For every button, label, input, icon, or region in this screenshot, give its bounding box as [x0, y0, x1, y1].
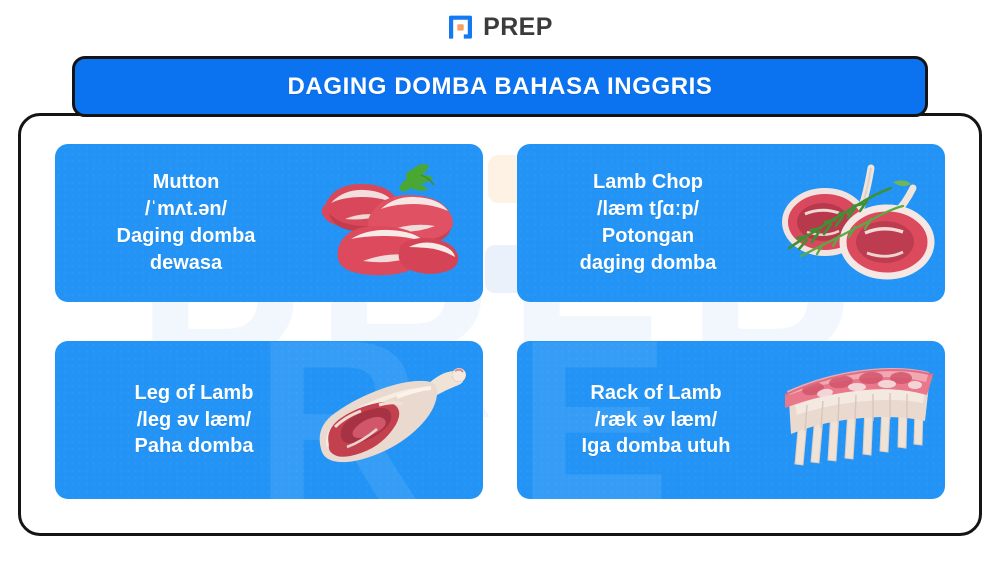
vocab-card-text: Rack of Lamb /ræk əv læm/ Iga domba utuh: [517, 380, 785, 460]
vocab-card-text: Leg of Lamb /leg əv læm/ Paha domba: [55, 380, 323, 460]
prep-logo-icon: [447, 14, 474, 41]
term-label: Leg of Lamb: [65, 380, 323, 407]
rack-of-lamb-photo: [760, 341, 945, 499]
meaning-line-2: dewasa: [65, 250, 307, 277]
meaning-line-1: Iga domba utuh: [527, 433, 785, 460]
meaning-line-2: daging domba: [527, 250, 769, 277]
ipa-label: /leg əv læm/: [65, 407, 323, 434]
term-label: Rack of Lamb: [527, 380, 785, 407]
meaning-line-1: Paha domba: [65, 433, 323, 460]
vocabulary-grid: Mutton /ˈmʌt.ən/ Daging domba dewasa: [55, 144, 945, 499]
infographic-page: PREP PREP DAGING DOMBA BAHASA INGGRIS Mu…: [0, 0, 1000, 563]
page-title: DAGING DOMBA BAHASA INGGRIS: [287, 73, 712, 101]
ipa-label: /ˈmʌt.ən/: [65, 196, 307, 223]
title-banner: DAGING DOMBA BAHASA INGGRIS: [72, 56, 928, 117]
vocab-card-text: Lamb Chop /læm tʃɑːp/ Potongan daging do…: [517, 169, 769, 276]
vocab-card-leg-of-lamb[interactable]: R Leg of Lamb /leg əv læm/ Paha domba: [55, 341, 483, 499]
lamb-chop-photo: [760, 144, 945, 302]
ipa-label: /læm tʃɑːp/: [527, 196, 769, 223]
brand-name: PREP: [483, 15, 553, 40]
term-label: Mutton: [65, 169, 307, 196]
vocab-card-text: Mutton /ˈmʌt.ən/ Daging domba dewasa: [55, 169, 307, 276]
mutton-cuts-photo: [298, 144, 483, 302]
leg-of-lamb-photo: [298, 341, 483, 499]
meaning-line-1: Potongan: [527, 223, 769, 250]
vocab-card-lamb-chop[interactable]: Lamb Chop /læm tʃɑːp/ Potongan daging do…: [517, 144, 945, 302]
brand-header: PREP: [0, 8, 1000, 46]
meaning-line-1: Daging domba: [65, 223, 307, 250]
vocab-card-mutton[interactable]: Mutton /ˈmʌt.ən/ Daging domba dewasa: [55, 144, 483, 302]
vocab-card-rack-of-lamb[interactable]: E Rack of Lamb /ræk əv læm/ Iga domba ut…: [517, 341, 945, 499]
term-label: Lamb Chop: [527, 169, 769, 196]
ipa-label: /ræk əv læm/: [527, 407, 785, 434]
